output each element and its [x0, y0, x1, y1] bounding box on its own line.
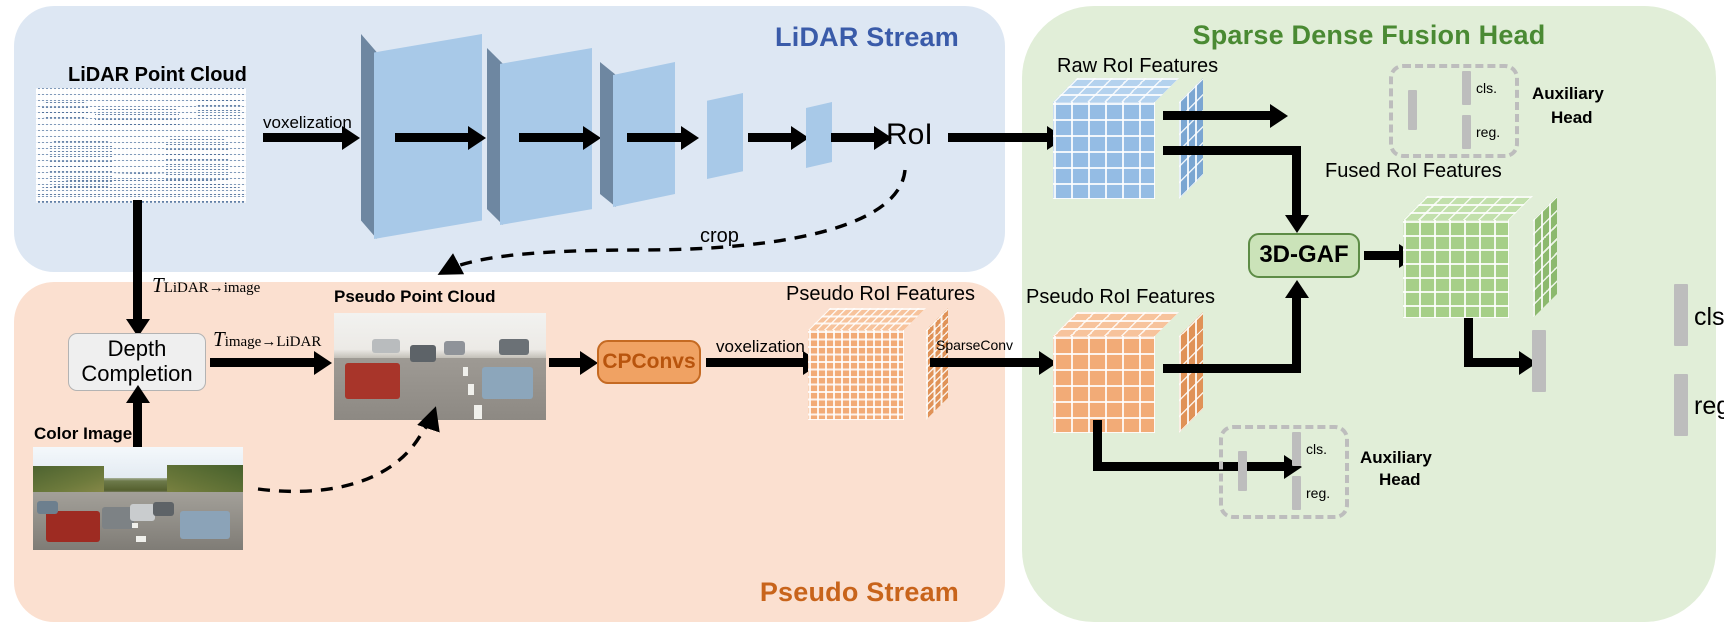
arrow-raw-roi-to-gaf	[1292, 146, 1301, 216]
arrow-stage4-to-stage5	[748, 133, 792, 142]
arrow-pseudo-roi-to-gaf	[1292, 297, 1301, 369]
main-head-cls-label: cls.	[1694, 303, 1724, 332]
transform-image-to-lidar-subscript: image→LiDAR	[225, 334, 322, 350]
arrow-pseudo-roi-to-fusion	[930, 358, 1040, 367]
panel-title-fusion-head: Sparse Dense Fusion Head	[1022, 20, 1716, 51]
main-head-input-bar	[1532, 330, 1546, 392]
arrow-cpconvs-to-pseudo-roi	[706, 358, 804, 367]
aux-head-top-name-line2: Head	[1551, 108, 1593, 128]
fused-roi-feature-cube	[1403, 196, 1533, 318]
cpconvs-box[interactable]: CPConvs	[597, 340, 701, 384]
conv-stage-4	[707, 93, 743, 179]
panel-title-pseudo-stream: Pseudo Stream	[760, 577, 959, 608]
arrow-stage1-to-stage2	[395, 133, 469, 142]
aux-head-bottom-cls-label: cls.	[1306, 441, 1327, 457]
arrow-gaf-to-fused-cube	[1364, 251, 1400, 260]
figure-canvas: LiDAR Stream Pseudo Stream Sparse Dense …	[0, 0, 1724, 627]
main-head-cls-bar	[1674, 284, 1688, 346]
aux-head-bottom-cls-bar	[1292, 432, 1301, 466]
aux-head-bottom-name-line1: Auxiliary	[1360, 448, 1432, 468]
wire-pseudo-roi-to-gaf-h	[1163, 364, 1301, 373]
roi-label: RoI	[886, 118, 933, 152]
arrow-stage2-to-stage3	[519, 133, 584, 142]
transform-lidar-to-image-symbol: T	[152, 273, 164, 297]
aux-head-top-cls-label: cls.	[1476, 80, 1497, 96]
aux-head-bottom-name-line2: Head	[1379, 470, 1421, 490]
transform-lidar-to-image-label: TLiDAR→image	[152, 273, 260, 298]
depth-completion-line1: Depth	[81, 337, 192, 362]
cpconvs-label: CPConvs	[602, 350, 695, 374]
raw-roi-features-label: Raw RoI Features	[1057, 55, 1218, 78]
arrow-fused-to-main-head	[1464, 358, 1520, 367]
gaf-box[interactable]: 3D-GAF	[1248, 233, 1360, 278]
color-image-label: Color Image	[34, 424, 132, 444]
lidar-voxelization-label: voxelization	[263, 113, 352, 133]
arrow-depth-to-pseudo-point-cloud	[210, 358, 315, 367]
pseudo-roi-feature-cube-right	[1053, 312, 1179, 433]
raw-roi-feature-cube	[1053, 78, 1179, 199]
lidar-point-cloud-image	[36, 88, 246, 203]
arrow-pointcloud-to-backbone	[263, 133, 343, 142]
pseudo-point-cloud-label: Pseudo Point Cloud	[334, 287, 496, 307]
crop-label: crop	[700, 225, 739, 248]
main-head-reg-bar	[1674, 374, 1688, 436]
transform-image-to-lidar-symbol: T	[213, 327, 225, 351]
arrow-stage3-to-stage4	[627, 133, 682, 142]
pseudo-roi-features-label-right: Pseudo RoI Features	[1026, 286, 1215, 309]
lidar-point-cloud-label: LiDAR Point Cloud	[68, 64, 247, 87]
pseudo-roi-features-label-left: Pseudo RoI Features	[786, 283, 975, 306]
pseudo-point-cloud-image	[334, 313, 546, 420]
aux-head-top-cls-bar	[1462, 71, 1471, 105]
aux-head-top-reg-bar	[1462, 115, 1471, 149]
aux-head-bottom-reg-bar	[1292, 476, 1301, 510]
arrow-stage5-to-roi	[831, 133, 875, 142]
aux-head-bottom-reg-label: reg.	[1306, 485, 1330, 501]
pseudo-roi-feature-cube-left	[808, 308, 926, 420]
aux-head-top-name-line1: Auxiliary	[1532, 84, 1604, 104]
color-image	[33, 447, 243, 550]
main-head-reg-label: reg.	[1694, 392, 1724, 421]
wire-raw-roi-to-gaf-h	[1163, 146, 1301, 155]
pseudo-voxelization-label: voxelization	[716, 337, 805, 357]
panel-title-lidar-stream: LiDAR Stream	[775, 22, 959, 53]
conv-stage-5	[806, 102, 832, 168]
transform-lidar-to-image-subscript: LiDAR→image	[164, 280, 261, 296]
transform-image-to-lidar-label: Timage→LiDAR	[213, 327, 321, 352]
depth-completion-box[interactable]: Depth Completion	[68, 333, 206, 391]
depth-completion-line2: Completion	[81, 362, 192, 387]
arrow-pseudo-image-to-cpconvs	[549, 358, 581, 367]
arrow-lidar-to-depth-completion	[133, 200, 142, 320]
aux-head-bottom-input-bar	[1238, 451, 1247, 491]
gaf-label: 3D-GAF	[1259, 242, 1348, 269]
arrow-roi-to-fusion	[948, 133, 1048, 142]
arrow-raw-roi-to-aux-head	[1163, 111, 1271, 120]
aux-head-top-reg-label: reg.	[1476, 124, 1500, 140]
sparseconv-label: SparseConv	[936, 337, 1013, 353]
aux-head-top-input-bar	[1408, 90, 1417, 130]
fused-roi-features-label: Fused RoI Features	[1325, 160, 1502, 183]
